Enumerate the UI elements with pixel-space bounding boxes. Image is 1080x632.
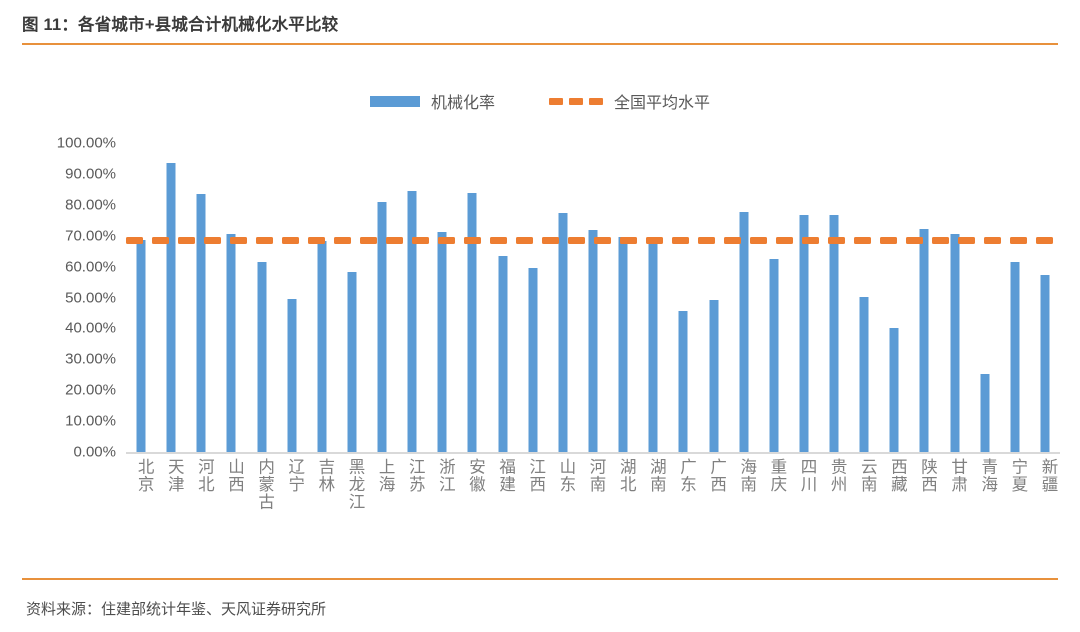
x-axis-tick-label: 四川 [789,458,819,493]
bar-slot [1000,143,1030,452]
y-axis-ticks: 100.00%90.00%80.00%70.00%60.00%50.00%40.… [18,143,116,452]
x-axis-tick-label: 甘肃 [939,458,969,493]
bar-slot [247,143,277,452]
source-note: 资料来源：住建部统计年鉴、天风证券研究所 [26,598,326,619]
y-axis-tick-label: 80.00% [18,196,116,213]
x-axis-tick-label: 内蒙古 [247,458,277,511]
bar[interactable] [317,241,326,452]
bar[interactable] [769,259,778,452]
bar-slot [578,143,608,452]
bar-slot [819,143,849,452]
x-axis-tick-label: 河北 [186,458,216,493]
x-axis-tick-label: 辽宁 [277,458,307,493]
bar[interactable] [950,234,959,452]
x-axis-tick-label: 天津 [156,458,186,493]
bar-slot [668,143,698,452]
bar-slot [367,143,397,452]
x-axis-tick-label: 陕西 [909,458,939,493]
bar-slot [548,143,578,452]
bar-slot [849,143,879,452]
bar[interactable] [1040,275,1049,452]
bar[interactable] [257,262,266,452]
x-axis-tick-label: 宁夏 [1000,458,1030,493]
y-axis-tick-label: 60.00% [18,258,116,275]
bar[interactable] [227,234,236,452]
x-axis-tick-label: 福建 [488,458,518,493]
bar[interactable] [920,229,929,452]
bar[interactable] [378,202,387,452]
bar[interactable] [588,230,597,452]
x-axis-tick-label: 贵州 [819,458,849,493]
plot-area [126,143,1060,452]
bar[interactable] [498,256,507,452]
bar-slot [126,143,156,452]
bar-slot [216,143,246,452]
bar-slot [488,143,518,452]
bar[interactable] [167,163,176,452]
x-axis-tick-label: 北京 [126,458,156,493]
x-axis-tick-label: 河南 [578,458,608,493]
bar[interactable] [1010,262,1019,452]
x-axis-tick-label: 吉林 [307,458,337,493]
bar-slot [337,143,367,452]
bar[interactable] [408,191,417,452]
bar[interactable] [830,215,839,452]
footer-divider [22,578,1058,580]
x-axis-tick-label: 山东 [548,458,578,493]
y-axis-tick-label: 90.00% [18,165,116,182]
x-axis-tick-label: 青海 [970,458,1000,493]
x-axis-tick-label: 广东 [668,458,698,493]
bar-slot [638,143,668,452]
bar[interactable] [528,268,537,452]
bar[interactable] [347,272,356,452]
bar-slot [1030,143,1060,452]
bar-slot [457,143,487,452]
bar[interactable] [468,193,477,452]
x-axis-tick-label: 新疆 [1030,458,1060,493]
bar-slot [397,143,427,452]
chart-area: 100.00%90.00%80.00%70.00%60.00%50.00%40.… [0,0,1080,632]
bar-slot [789,143,819,452]
x-axis-labels: 北京天津河北山西内蒙古辽宁吉林黑龙江上海江苏浙江安徽福建江西山东河南湖北湖南广东… [126,458,1060,558]
bar-slot [156,143,186,452]
x-axis-tick-label: 西藏 [879,458,909,493]
bar-slot [427,143,457,452]
bar[interactable] [860,297,869,452]
bar[interactable] [137,240,146,452]
x-axis-tick-label: 浙江 [427,458,457,493]
x-axis-tick-label: 上海 [367,458,397,493]
y-axis-tick-label: 40.00% [18,320,116,337]
bar[interactable] [649,241,658,452]
x-axis-tick-label: 重庆 [759,458,789,493]
bar[interactable] [438,232,447,452]
bar-slot [909,143,939,452]
bar-slot [759,143,789,452]
x-axis-tick-label: 山西 [216,458,246,493]
bar-slot [970,143,1000,452]
bar-slot [939,143,969,452]
y-axis-tick-label: 30.00% [18,351,116,368]
y-axis-tick-label: 100.00% [18,135,116,152]
y-axis-tick-label: 20.00% [18,382,116,399]
x-axis-tick-label: 广西 [698,458,728,493]
figure-page: 图 11：各省城市+县城合计机械化水平比较 机械化率 全国平均水平 100.00… [0,0,1080,632]
bar-slot [186,143,216,452]
x-axis-line [126,452,1060,454]
y-axis-tick-label: 50.00% [18,289,116,306]
x-axis-tick-label: 湖南 [638,458,668,493]
bar-slot [307,143,337,452]
bar-series [126,143,1060,452]
bar[interactable] [709,300,718,452]
x-axis-tick-label: 江西 [518,458,548,493]
y-axis-tick-label: 70.00% [18,227,116,244]
x-axis-tick-label: 江苏 [397,458,427,493]
bar-slot [277,143,307,452]
x-axis-tick-label: 安徽 [457,458,487,493]
bar[interactable] [890,328,899,452]
bar[interactable] [619,237,628,452]
bar[interactable] [799,215,808,452]
bar[interactable] [558,213,567,452]
bar[interactable] [287,299,296,452]
bar[interactable] [679,311,688,452]
bar[interactable] [739,212,748,452]
bar-slot [729,143,759,452]
x-axis-tick-label: 黑龙江 [337,458,367,511]
x-axis-tick-label: 云南 [849,458,879,493]
x-axis-tick-label: 湖北 [608,458,638,493]
y-axis-tick-label: 0.00% [18,444,116,461]
bar-slot [879,143,909,452]
x-axis-tick-label: 海南 [729,458,759,493]
bar-slot [698,143,728,452]
bar[interactable] [980,374,989,452]
bar-slot [608,143,638,452]
bar[interactable] [197,194,206,452]
bar-slot [518,143,548,452]
y-axis-tick-label: 10.00% [18,413,116,430]
